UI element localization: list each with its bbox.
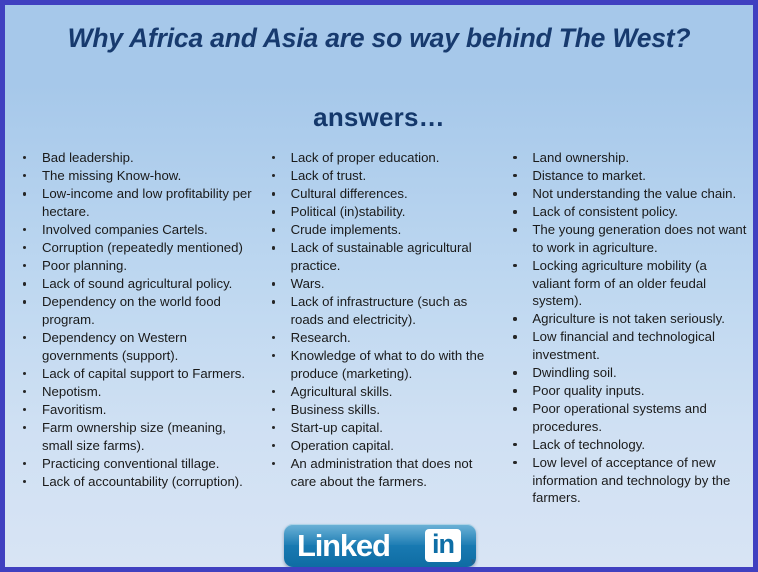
bullet-text: Land ownership. <box>532 150 629 165</box>
bullet-item: Involved companies Cartels. <box>14 221 259 239</box>
bullet-item: Cultural differences. <box>263 185 501 203</box>
bullet-text: An administration that does not care abo… <box>291 456 473 489</box>
linkedin-badge: Linked in ® <box>284 524 476 567</box>
bullet-text: Low financial and technological investme… <box>532 329 715 362</box>
bullet-item: Land ownership. <box>504 149 747 167</box>
bullet-text: Research. <box>291 330 351 345</box>
bullet-text: Start-up capital. <box>291 420 383 435</box>
bullet-item: Research. <box>263 329 501 347</box>
bullet-item: Lack of sustainable agricultural practic… <box>263 239 501 274</box>
bullet-text: Involved companies Cartels. <box>42 222 208 237</box>
bullet-item: Operation capital. <box>263 437 501 455</box>
bullet-column-3: Land ownership.Distance to market.Not un… <box>504 149 749 507</box>
bullet-dot-icon <box>23 174 26 177</box>
bullet-text: Cultural differences. <box>291 186 408 201</box>
bullet-column-1: Bad leadership.The missing Know-how.Low-… <box>14 149 263 491</box>
linkedin-in-square: in <box>425 529 461 562</box>
bullet-item: Low level of acceptance of new informati… <box>504 454 747 507</box>
bullet-text: Lack of technology. <box>532 437 645 452</box>
bullet-item: Lack of consistent policy. <box>504 203 747 221</box>
bullet-column-2: Lack of proper education.Lack of trust.C… <box>263 149 505 491</box>
bullet-text: Lack of sound agricultural policy. <box>42 276 232 291</box>
bullet-dot-icon <box>272 192 275 195</box>
bullet-dot-icon <box>272 210 275 213</box>
bullet-text: Corruption (repeatedly mentioned) <box>42 240 243 255</box>
bullet-item: Poor quality inputs. <box>504 382 747 400</box>
bullet-text: Business skills. <box>291 402 380 417</box>
bullet-dot-icon <box>23 192 26 195</box>
bullet-dot-icon <box>23 408 26 411</box>
bullet-dot-icon <box>23 300 26 303</box>
bullet-dot-icon <box>23 282 26 285</box>
bullet-text: Farm ownership size (meaning, small size… <box>42 420 226 453</box>
bullet-item: Start-up capital. <box>263 419 501 437</box>
bullet-dot-icon <box>272 228 275 231</box>
linkedin-wordmark: Linked <box>297 525 390 567</box>
bullet-dot-icon <box>23 246 26 249</box>
bullet-dot-icon <box>272 408 275 411</box>
bullet-dot-icon <box>23 426 26 429</box>
bullet-dot-icon <box>23 156 26 159</box>
bullet-dot-icon <box>513 443 516 446</box>
bullet-dot-icon <box>23 372 26 375</box>
bullet-item: Distance to market. <box>504 167 747 185</box>
bullet-text: Dwindling soil. <box>532 365 616 380</box>
bullet-item: Favoritism. <box>14 401 259 419</box>
bullet-item: Wars. <box>263 275 501 293</box>
bullet-item: Crude implements. <box>263 221 501 239</box>
bullet-item: Nepotism. <box>14 383 259 401</box>
bullet-list-1: Bad leadership.The missing Know-how.Low-… <box>14 149 259 490</box>
bullet-text: Favoritism. <box>42 402 106 417</box>
bullet-item: Lack of infrastructure (such as roads an… <box>263 293 501 328</box>
bullet-dot-icon <box>272 156 275 159</box>
linkedin-trademark-icon: ® <box>471 560 475 566</box>
bullet-item: Locking agriculture mobility (a valiant … <box>504 257 747 310</box>
bullet-item: Dependency on Western governments (suppo… <box>14 329 259 364</box>
bullet-dot-icon <box>513 192 516 195</box>
bullet-item: Not understanding the value chain. <box>504 185 747 203</box>
bullet-item: Lack of accountability (corruption). <box>14 473 259 491</box>
bullet-text: Operation capital. <box>291 438 394 453</box>
bullet-text: Bad leadership. <box>42 150 134 165</box>
bullet-item: The young generation does not want to wo… <box>504 221 747 256</box>
bullet-text: Dependency on the world food program. <box>42 294 221 327</box>
bullet-text: Practicing conventional tillage. <box>42 456 219 471</box>
bullet-text: Knowledge of what to do with the produce… <box>291 348 485 381</box>
bullet-item: Political (in)stability. <box>263 203 501 221</box>
bullet-item: Low-income and low profitability per hec… <box>14 185 259 220</box>
bullet-item: Lack of technology. <box>504 436 747 454</box>
bullet-dot-icon <box>513 174 516 177</box>
bullet-dot-icon <box>513 228 516 231</box>
bullet-dot-icon <box>513 156 516 159</box>
bullet-item: An administration that does not care abo… <box>263 455 501 490</box>
bullet-item: Knowledge of what to do with the produce… <box>263 347 501 382</box>
bullet-list-3: Land ownership.Distance to market.Not un… <box>504 149 747 507</box>
bullet-text: Lack of accountability (corruption). <box>42 474 243 489</box>
bullet-item: Practicing conventional tillage. <box>14 455 259 473</box>
bullet-dot-icon <box>513 335 516 338</box>
bullet-text: Nepotism. <box>42 384 101 399</box>
bullet-text: Lack of capital support to Farmers. <box>42 366 245 381</box>
bullet-item: Business skills. <box>263 401 501 419</box>
bullet-text: Lack of sustainable agricultural practic… <box>291 240 472 273</box>
bullet-text: Not understanding the value chain. <box>532 186 736 201</box>
bullet-text: Distance to market. <box>532 168 646 183</box>
slide-canvas: Why Africa and Asia are so way behind Th… <box>0 0 758 572</box>
bullet-item: Lack of trust. <box>263 167 501 185</box>
bullet-dot-icon <box>272 426 275 429</box>
bullet-dot-icon <box>272 336 275 339</box>
bullet-dot-icon <box>272 354 275 357</box>
bullet-text: Dependency on Western governments (suppo… <box>42 330 187 363</box>
bullet-text: The young generation does not want to wo… <box>532 222 746 255</box>
bullet-text: Lack of consistent policy. <box>532 204 678 219</box>
bullet-text: Poor quality inputs. <box>532 383 644 398</box>
bullet-text: The missing Know-how. <box>42 168 181 183</box>
bullet-item: Farm ownership size (meaning, small size… <box>14 419 259 454</box>
bullet-dot-icon <box>513 317 516 320</box>
bullet-list-2: Lack of proper education.Lack of trust.C… <box>263 149 501 490</box>
bullet-item: Corruption (repeatedly mentioned) <box>14 239 259 257</box>
page-subtitle: answers… <box>5 102 753 133</box>
bullet-dot-icon <box>272 174 275 177</box>
bullet-item: Dwindling soil. <box>504 364 747 382</box>
bullet-dot-icon <box>272 246 275 249</box>
bullet-dot-icon <box>513 389 516 392</box>
bullet-text: Crude implements. <box>291 222 402 237</box>
bullet-text: Low-income and low profitability per hec… <box>42 186 252 219</box>
bullet-dot-icon <box>513 407 516 410</box>
bullet-dot-icon <box>513 264 516 267</box>
bullet-item: Agriculture is not taken seriously. <box>504 310 747 328</box>
bullet-text: Wars. <box>291 276 325 291</box>
bullet-item: Poor planning. <box>14 257 259 275</box>
bullet-dot-icon <box>23 228 26 231</box>
bullet-dot-icon <box>513 210 516 213</box>
bullet-text: Agricultural skills. <box>291 384 393 399</box>
bullet-dot-icon <box>272 462 275 465</box>
bullet-dot-icon <box>513 461 516 464</box>
bullet-text: Low level of acceptance of new informati… <box>532 455 730 505</box>
bullet-text: Lack of proper education. <box>291 150 440 165</box>
bullet-dot-icon <box>513 371 516 374</box>
bullet-item: Lack of sound agricultural policy. <box>14 275 259 293</box>
bullet-dot-icon <box>23 480 26 483</box>
bullet-text: Agriculture is not taken seriously. <box>532 311 725 326</box>
bullet-dot-icon <box>23 264 26 267</box>
bullet-dot-icon <box>23 462 26 465</box>
page-title: Why Africa and Asia are so way behind Th… <box>5 23 753 54</box>
bullet-item: Lack of capital support to Farmers. <box>14 365 259 383</box>
bullet-dot-icon <box>272 390 275 393</box>
bullet-text: Poor planning. <box>42 258 127 273</box>
bullet-text: Lack of trust. <box>291 168 367 183</box>
bullet-item: Poor operational systems and procedures. <box>504 400 747 435</box>
bullet-text: Political (in)stability. <box>291 204 406 219</box>
bullet-dot-icon <box>272 282 275 285</box>
bullet-item: Low financial and technological investme… <box>504 328 747 363</box>
bullet-dot-icon <box>23 390 26 393</box>
bullet-dot-icon <box>272 300 275 303</box>
bullet-item: Dependency on the world food program. <box>14 293 259 328</box>
linkedin-in-text: in <box>425 527 461 561</box>
bullet-item: Agricultural skills. <box>263 383 501 401</box>
bullet-item: The missing Know-how. <box>14 167 259 185</box>
linkedin-logo[interactable]: Linked in ® <box>284 524 476 569</box>
bullet-item: Bad leadership. <box>14 149 259 167</box>
bullet-dot-icon <box>272 444 275 447</box>
bullet-text: Locking agriculture mobility (a valiant … <box>532 258 706 308</box>
bullet-text: Lack of infrastructure (such as roads an… <box>291 294 468 327</box>
bullet-text: Poor operational systems and procedures. <box>532 401 706 434</box>
bullet-item: Lack of proper education. <box>263 149 501 167</box>
bullet-dot-icon <box>23 336 26 339</box>
bullet-columns: Bad leadership.The missing Know-how.Low-… <box>14 149 749 507</box>
